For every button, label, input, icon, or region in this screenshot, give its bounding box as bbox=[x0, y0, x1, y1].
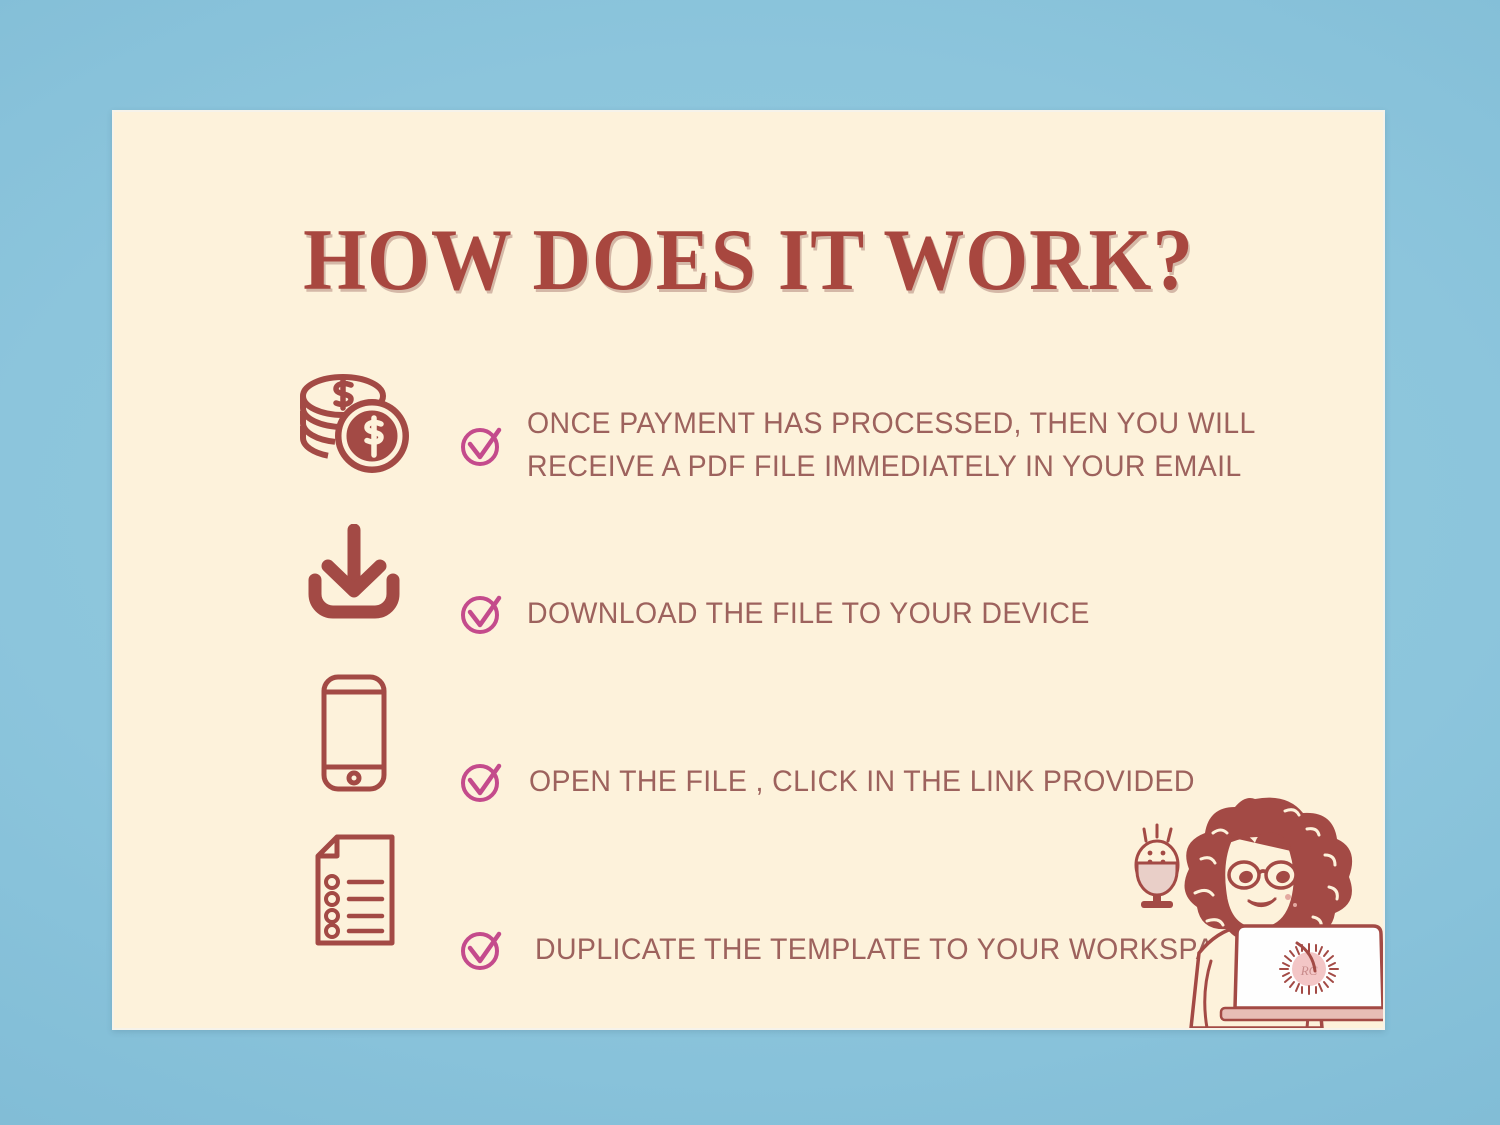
step-label: DOWNLOAD THE FILE TO YOUR DEVICE bbox=[527, 593, 1090, 636]
page-title: HOW DOES IT WORK? bbox=[165, 217, 1332, 305]
list-item: DUPLICATE THE TEMPLATE TO YOUR WORKSPACE bbox=[114, 866, 1383, 1030]
step-label: DUPLICATE THE TEMPLATE TO YOUR WORKSPACE bbox=[535, 929, 1255, 972]
download-icon bbox=[279, 524, 429, 624]
steps-list: ONCE PAYMENT HAS PROCESSED, THEN YOU WIL… bbox=[114, 362, 1383, 1030]
check-circle-icon bbox=[453, 591, 509, 637]
step-label: ONCE PAYMENT HAS PROCESSED, THEN YOU WIL… bbox=[527, 403, 1256, 488]
slide-canvas: HOW DOES IT WORK? bbox=[0, 0, 1500, 1125]
check-circle-icon bbox=[453, 423, 509, 469]
smartphone-icon bbox=[279, 672, 429, 794]
list-item: ONCE PAYMENT HAS PROCESSED, THEN YOU WIL… bbox=[114, 362, 1383, 530]
document-list-icon bbox=[279, 832, 429, 948]
content-card: HOW DOES IT WORK? bbox=[112, 110, 1385, 1030]
coins-icon bbox=[279, 368, 429, 480]
check-circle-icon bbox=[453, 927, 509, 973]
check-circle-icon bbox=[453, 759, 509, 805]
step-label: OPEN THE FILE , CLICK IN THE LINK PROVID… bbox=[529, 761, 1195, 804]
